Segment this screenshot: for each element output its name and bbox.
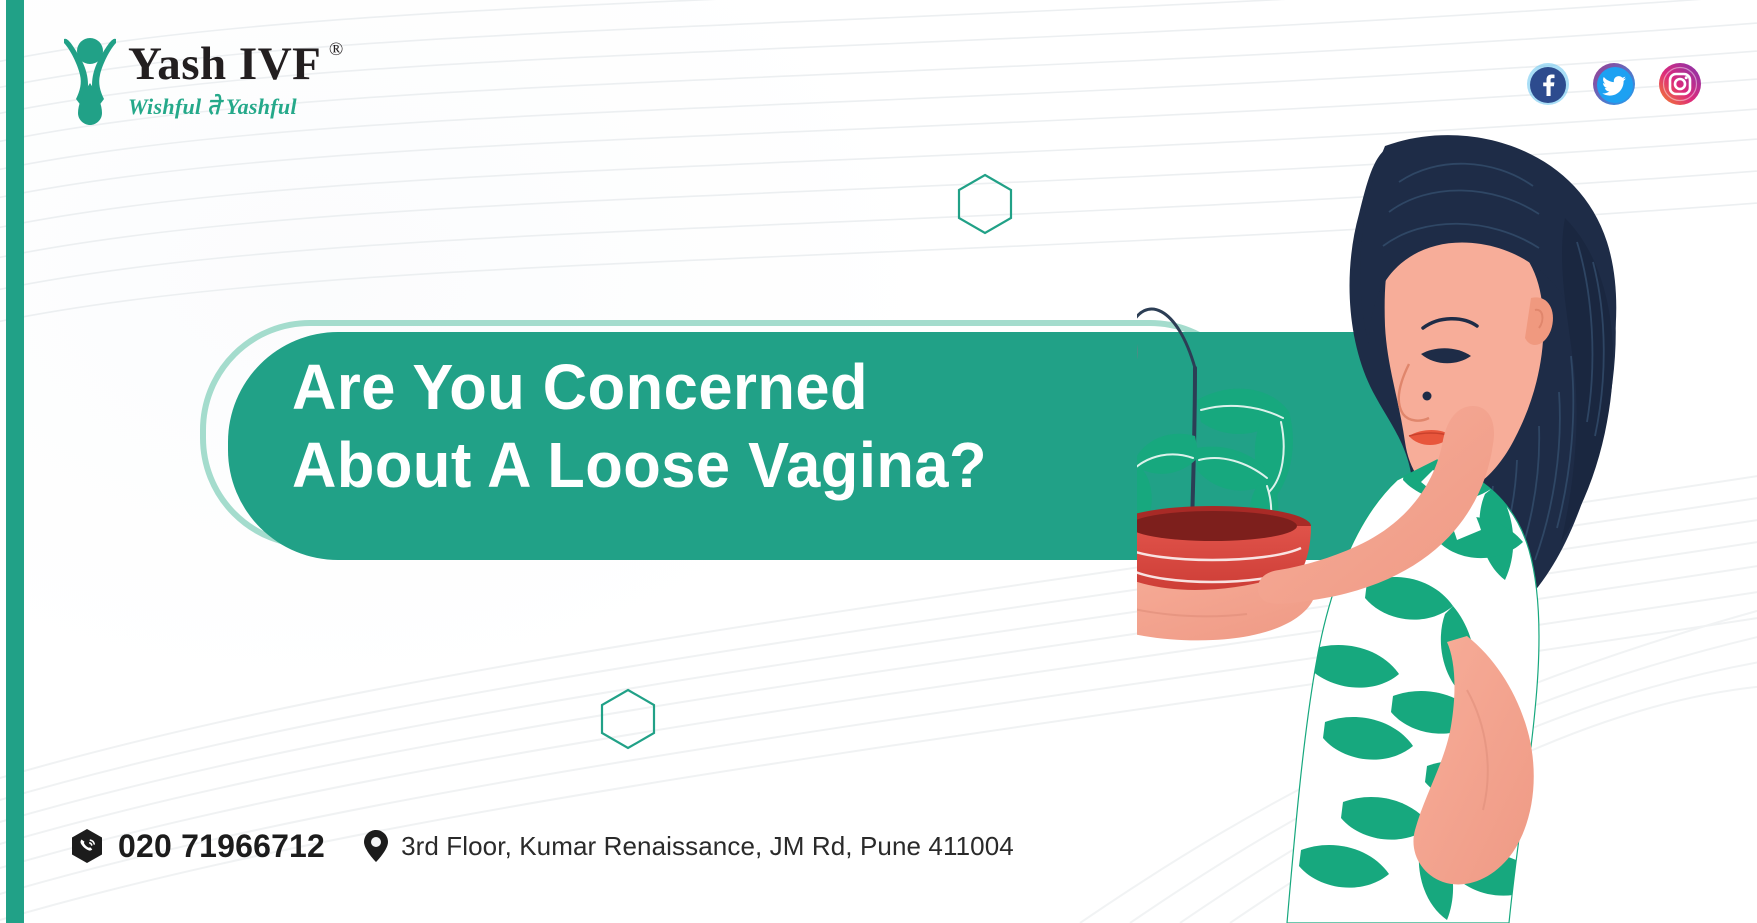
hexagon-bottom-icon (600, 688, 656, 750)
hexagon-top-icon (957, 173, 1013, 235)
footer-contact: 020 71966712 3rd Floor, Kumar Renaissanc… (68, 827, 1014, 865)
headline-line-2: About A Loose Vagina? (292, 426, 987, 504)
phone-number: 020 71966712 (118, 828, 325, 865)
brand-name: Yash IVF (128, 41, 321, 88)
headline-line-1: Are You Concerned (292, 348, 987, 426)
promotional-banner: Yash IVF ® Wishful ते Yashful (0, 0, 1757, 923)
phone-icon (68, 827, 106, 865)
address-text: 3rd Floor, Kumar Renaissance, JM Rd, Pun… (401, 831, 1014, 862)
person-raising-arms-icon (62, 33, 118, 125)
left-accent-bar (6, 0, 24, 923)
facebook-icon[interactable] (1526, 62, 1570, 106)
location-pin-icon (363, 829, 389, 863)
instagram-icon[interactable] (1658, 62, 1702, 106)
headline: Are You Concerned About A Loose Vagina? (292, 348, 987, 504)
woman-holding-wilting-plant-illustration (1137, 130, 1757, 923)
phone-contact[interactable]: 020 71966712 (68, 827, 325, 865)
social-links (1526, 62, 1702, 106)
brand-tagline: Wishful ते Yashful (128, 91, 321, 121)
brand-logo[interactable]: Yash IVF ® Wishful ते Yashful (62, 33, 321, 125)
registered-mark: ® (329, 39, 343, 61)
twitter-icon[interactable] (1592, 62, 1636, 106)
address-contact[interactable]: 3rd Floor, Kumar Renaissance, JM Rd, Pun… (363, 829, 1014, 863)
